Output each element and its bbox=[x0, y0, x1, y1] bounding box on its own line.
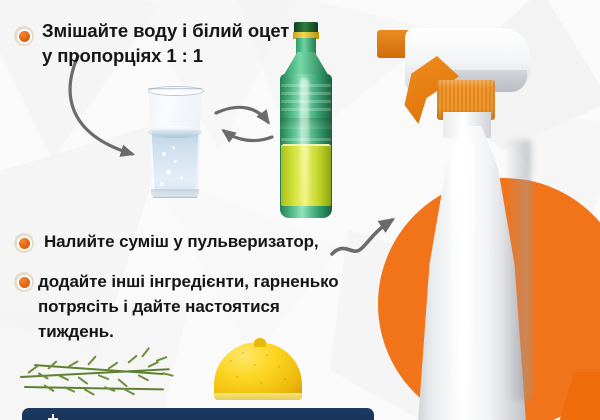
step-1-text: Змішайте воду і білий оцет у пропорціях … bbox=[42, 18, 292, 68]
rosemary-needle bbox=[87, 355, 97, 365]
rosemary-needle bbox=[156, 356, 168, 362]
rosemary-needle bbox=[117, 378, 128, 387]
step-2-text: Налийте суміш у пульверизатор, bbox=[44, 230, 344, 254]
glass-of-water bbox=[144, 88, 206, 198]
rosemary-needle bbox=[148, 361, 160, 368]
bullet-marker-step-1 bbox=[14, 26, 34, 46]
bullet-marker-step-3 bbox=[14, 272, 34, 292]
spray-shadow bbox=[505, 140, 531, 400]
rosemary-needle bbox=[77, 376, 88, 385]
rosemary-needle bbox=[98, 374, 110, 381]
lemon-cut-face bbox=[214, 393, 302, 400]
step-3-text: додайте інші інгредієнти, гарненько потр… bbox=[38, 269, 348, 344]
bottom-banner-bar[interactable] bbox=[22, 408, 374, 420]
rosemary-sprigs bbox=[14, 342, 194, 404]
spray-highlight bbox=[451, 138, 473, 398]
rosemary-needle bbox=[137, 374, 149, 382]
infographic-canvas: Змішайте воду і білий оцет у пропорціях … bbox=[0, 0, 600, 420]
plus-icon bbox=[48, 414, 58, 420]
rosemary-needle bbox=[141, 347, 150, 358]
rosemary-needle bbox=[83, 388, 94, 396]
spray-bottle bbox=[365, 8, 565, 420]
rosemary-needle bbox=[162, 372, 174, 377]
bullet-marker-step-2 bbox=[14, 233, 34, 253]
bottle-highlight bbox=[300, 78, 309, 208]
rosemary-needle bbox=[127, 355, 138, 364]
glass-outline bbox=[144, 88, 206, 198]
